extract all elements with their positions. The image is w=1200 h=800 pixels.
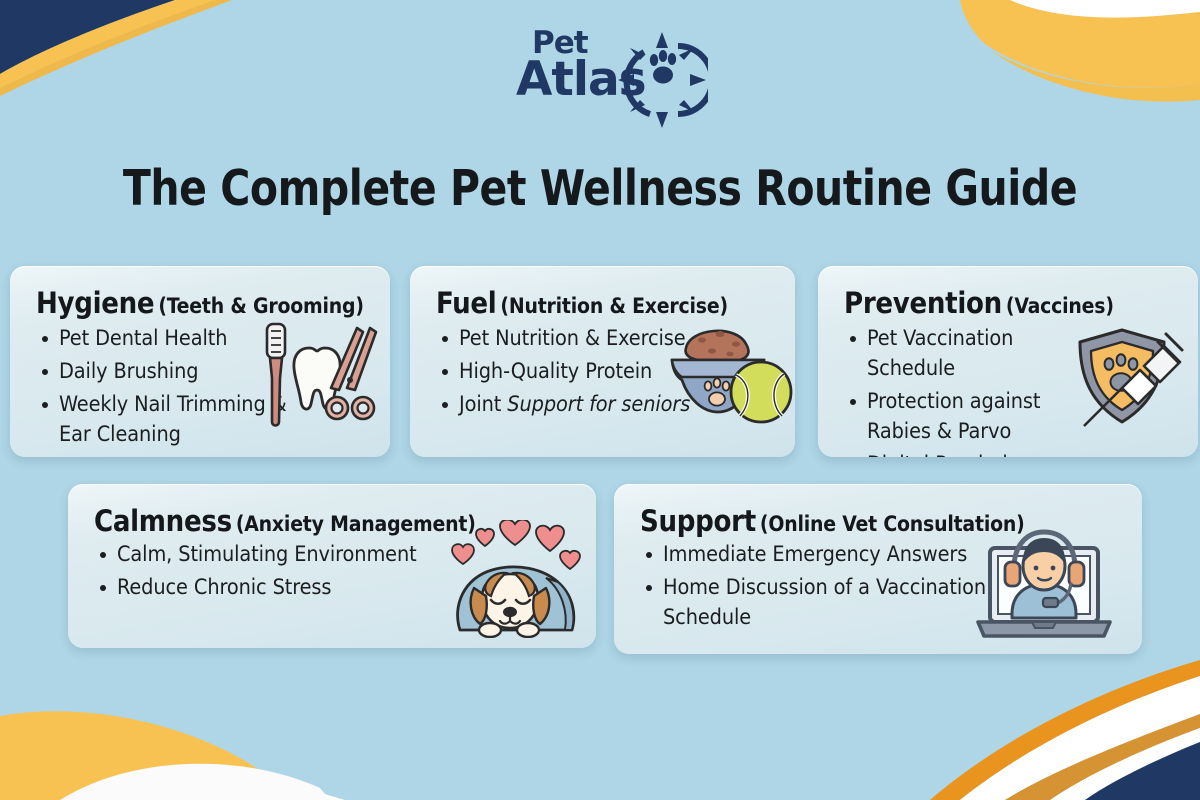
bullet-text: Home Discussion of a Vaccination Schedul… bbox=[663, 575, 986, 630]
list-item: Protection against Rabies & Parvo bbox=[848, 387, 1098, 447]
card-support-bullets: Immediate Emergency Answers Home Discuss… bbox=[644, 540, 994, 636]
shield-paw-syringe-icon bbox=[1070, 322, 1190, 432]
laptop-vet-headset-icon bbox=[972, 526, 1118, 644]
sleeping-dog-hearts-icon bbox=[434, 520, 586, 638]
tennis-ball-icon bbox=[731, 362, 791, 422]
card-fuel[interactable]: Fuel(Nutrition & Exercise) Pet Nutrition… bbox=[410, 266, 795, 457]
card-prevention-subtitle: (Vaccines) bbox=[1006, 294, 1114, 318]
bullet-text: Digital Reminders bbox=[867, 452, 1037, 457]
card-fuel-subtitle: (Nutrition & Exercise) bbox=[500, 294, 727, 318]
paw-print-icon bbox=[650, 50, 676, 84]
card-calmness-bullets: Calm, Stimulating Environment Reduce Chr… bbox=[98, 540, 478, 606]
bullet-text: Joint bbox=[459, 392, 507, 417]
bullet-text: Reduce Chronic Stress bbox=[117, 575, 331, 600]
card-support[interactable]: Support(Online Vet Consultation) Immedia… bbox=[614, 484, 1142, 654]
card-prevention-keyword: Prevention bbox=[844, 286, 1002, 320]
list-item: Reduce Chronic Stress bbox=[98, 573, 478, 603]
toothbrush-tooth-scissors-icon bbox=[253, 318, 381, 430]
page-title: The Complete Pet Wellness Routine Guide bbox=[42, 160, 1158, 217]
brand-logo[interactable]: Pet Atlas bbox=[516, 24, 706, 132]
hearts-icon bbox=[452, 520, 580, 569]
compass-paw-icon bbox=[616, 30, 708, 130]
card-hygiene[interactable]: Hygiene(Teeth & Grooming) Pet Dental Hea… bbox=[10, 266, 390, 457]
card-calmness-keyword: Calmness bbox=[94, 504, 232, 538]
card-fuel-heading: Fuel(Nutrition & Exercise) bbox=[436, 286, 777, 320]
bullet-text: Immediate Emergency Answers bbox=[663, 542, 967, 567]
list-item: Home Discussion of a Vaccination Schedul… bbox=[644, 573, 994, 633]
list-item: Digital Reminders bbox=[848, 450, 1098, 457]
list-item: Calm, Stimulating Environment bbox=[98, 540, 478, 570]
card-hygiene-heading: Hygiene(Teeth & Grooming) bbox=[36, 286, 372, 320]
infographic-poster: Pet Atlas bbox=[0, 0, 1200, 800]
food-bowl-tennis-ball-icon bbox=[662, 320, 794, 430]
bullet-text: Pet Dental Health bbox=[59, 326, 227, 351]
card-prevention-bullets: Pet Vaccination Schedule Protection agai… bbox=[848, 324, 1098, 457]
bullet-text: Pet Vaccination Schedule bbox=[867, 326, 1013, 381]
bullet-text: Calm, Stimulating Environment bbox=[117, 542, 417, 567]
card-hygiene-subtitle: (Teeth & Grooming) bbox=[158, 294, 363, 318]
card-prevention-heading: Prevention(Vaccines) bbox=[844, 286, 1180, 320]
list-item: Pet Nutrition & Exercise bbox=[440, 324, 700, 354]
card-fuel-keyword: Fuel bbox=[436, 286, 496, 320]
list-item: Immediate Emergency Answers bbox=[644, 540, 994, 570]
list-item: High-Quality Protein bbox=[440, 357, 700, 387]
list-item: Pet Vaccination Schedule bbox=[848, 324, 1098, 384]
bullet-text: Pet Nutrition & Exercise bbox=[459, 326, 686, 351]
list-item: Joint Support for seniors bbox=[440, 390, 700, 420]
card-prevention[interactable]: Prevention(Vaccines) Pet Vaccination Sch… bbox=[818, 266, 1198, 457]
bullet-text: High-Quality Protein bbox=[459, 359, 652, 384]
bullet-text: Protection against Rabies & Parvo bbox=[867, 389, 1040, 444]
card-calmness[interactable]: Calmness(Anxiety Management) Calm, Stimu… bbox=[68, 484, 596, 648]
bullet-text: Daily Brushing bbox=[59, 359, 198, 384]
card-fuel-bullets: Pet Nutrition & Exercise High-Quality Pr… bbox=[440, 324, 700, 423]
card-hygiene-keyword: Hygiene bbox=[36, 286, 154, 320]
toothbrush-icon bbox=[267, 324, 285, 426]
card-support-keyword: Support bbox=[640, 504, 756, 538]
